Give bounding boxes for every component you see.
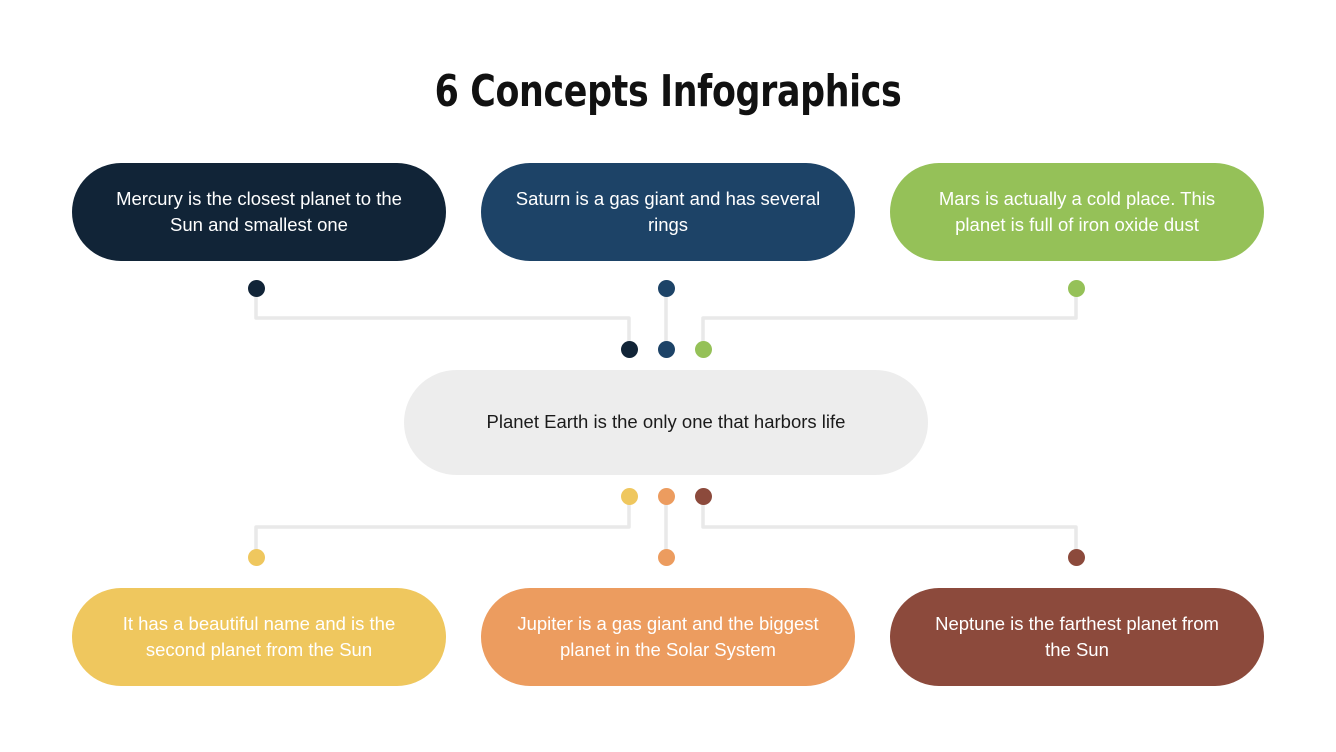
concept-card-jupiter-label: Jupiter is a gas giant and the biggest p… bbox=[515, 611, 821, 664]
connector-dot-mercury bbox=[248, 280, 265, 297]
connector-dot-jupiter bbox=[658, 549, 675, 566]
connector-top-left bbox=[256, 292, 629, 346]
concept-card-saturn[interactable]: Saturn is a gas giant and has several ri… bbox=[481, 163, 855, 261]
concept-card-venus-label: It has a beautiful name and is the secon… bbox=[106, 611, 412, 664]
concept-card-mercury[interactable]: Mercury is the closest planet to the Sun… bbox=[72, 163, 446, 261]
connector-dot-junction-mars bbox=[695, 341, 712, 358]
concept-card-earth-label: Planet Earth is the only one that harbor… bbox=[487, 409, 846, 436]
concept-card-mercury-label: Mercury is the closest planet to the Sun… bbox=[106, 186, 412, 239]
connector-dot-junction-venus bbox=[621, 488, 638, 505]
connector-dot-junction-jupiter bbox=[658, 488, 675, 505]
connector-bottom-left bbox=[256, 499, 629, 554]
page-title: 6 Concepts Infographics bbox=[80, 66, 1256, 117]
concept-card-mars-label: Mars is actually a cold place. This plan… bbox=[924, 186, 1230, 239]
connector-dot-junction-neptune bbox=[695, 488, 712, 505]
concept-card-neptune[interactable]: Neptune is the farthest planet from the … bbox=[890, 588, 1264, 686]
concept-card-venus[interactable]: It has a beautiful name and is the secon… bbox=[72, 588, 446, 686]
concept-card-saturn-label: Saturn is a gas giant and has several ri… bbox=[515, 186, 821, 239]
connector-dot-neptune bbox=[1068, 549, 1085, 566]
connector-dot-junction-saturn bbox=[658, 341, 675, 358]
connector-bottom-right bbox=[703, 499, 1076, 554]
connector-top-right bbox=[703, 292, 1076, 346]
connector-dot-junction-mercury bbox=[621, 341, 638, 358]
concept-card-earth-center[interactable]: Planet Earth is the only one that harbor… bbox=[404, 370, 928, 475]
concept-card-mars[interactable]: Mars is actually a cold place. This plan… bbox=[890, 163, 1264, 261]
connector-dot-mars bbox=[1068, 280, 1085, 297]
connector-dot-venus bbox=[248, 549, 265, 566]
connector-dot-saturn bbox=[658, 280, 675, 297]
concept-card-neptune-label: Neptune is the farthest planet from the … bbox=[924, 611, 1230, 664]
infographic-slide: 6 Concepts Infographics Mercury is the c… bbox=[0, 0, 1336, 752]
concept-card-jupiter[interactable]: Jupiter is a gas giant and the biggest p… bbox=[481, 588, 855, 686]
